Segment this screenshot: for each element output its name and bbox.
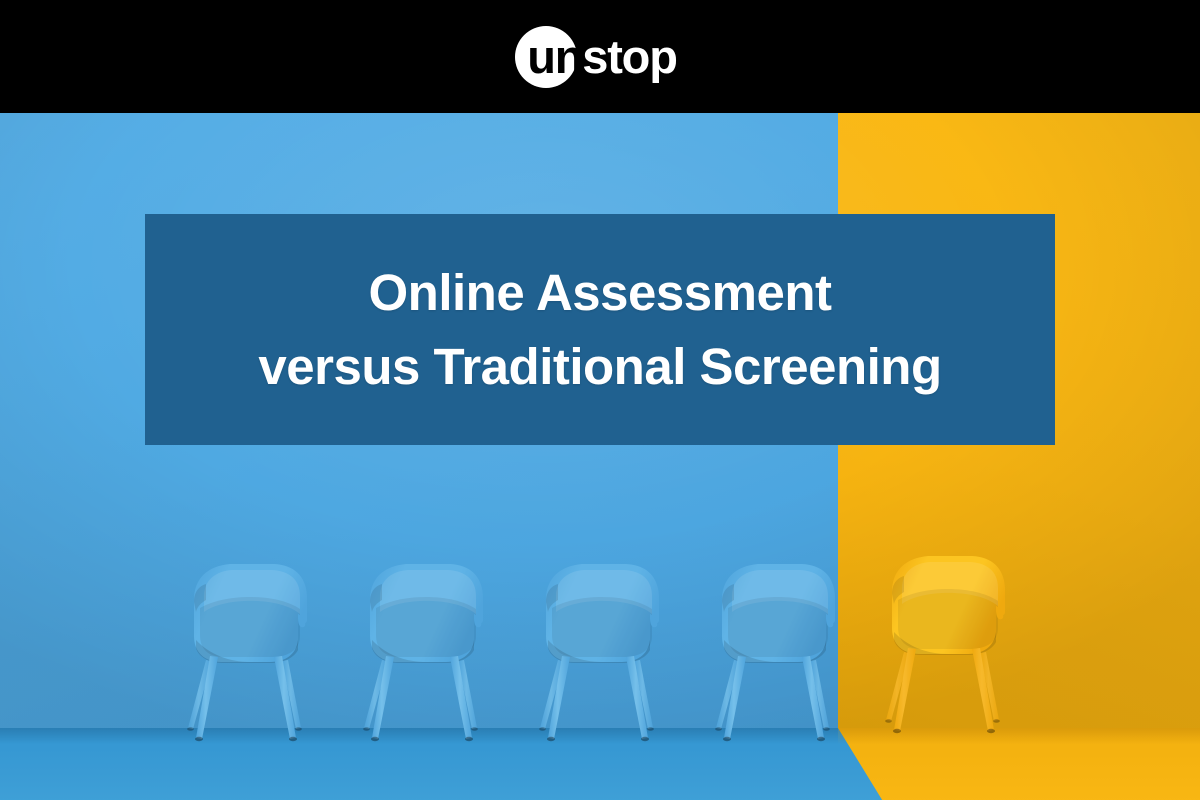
banner-title-line-1: Online Assessment <box>369 256 832 330</box>
chair-3 <box>522 556 676 746</box>
chair-2 <box>346 556 500 746</box>
chair-graphic <box>698 556 852 746</box>
chair-1 <box>170 556 324 746</box>
banner-title-line-2: versus Traditional Screening <box>258 330 941 404</box>
logo-text-stop: stop <box>582 26 676 88</box>
logo-text-un: un <box>523 26 582 88</box>
site-header-bar: un stop <box>0 0 1200 113</box>
screenshot-root: un stop <box>0 0 1200 800</box>
chair-graphic <box>522 556 676 746</box>
chair-graphic <box>868 548 1022 738</box>
cover-photo: Online Assessment versus Traditional Scr… <box>0 113 1200 800</box>
chair-4 <box>698 556 852 746</box>
chair-graphic <box>170 556 324 746</box>
unstop-logo[interactable]: un stop <box>523 24 676 90</box>
title-banner: Online Assessment versus Traditional Scr… <box>145 214 1055 445</box>
chair-graphic <box>346 556 500 746</box>
chair-5 <box>868 548 1022 738</box>
